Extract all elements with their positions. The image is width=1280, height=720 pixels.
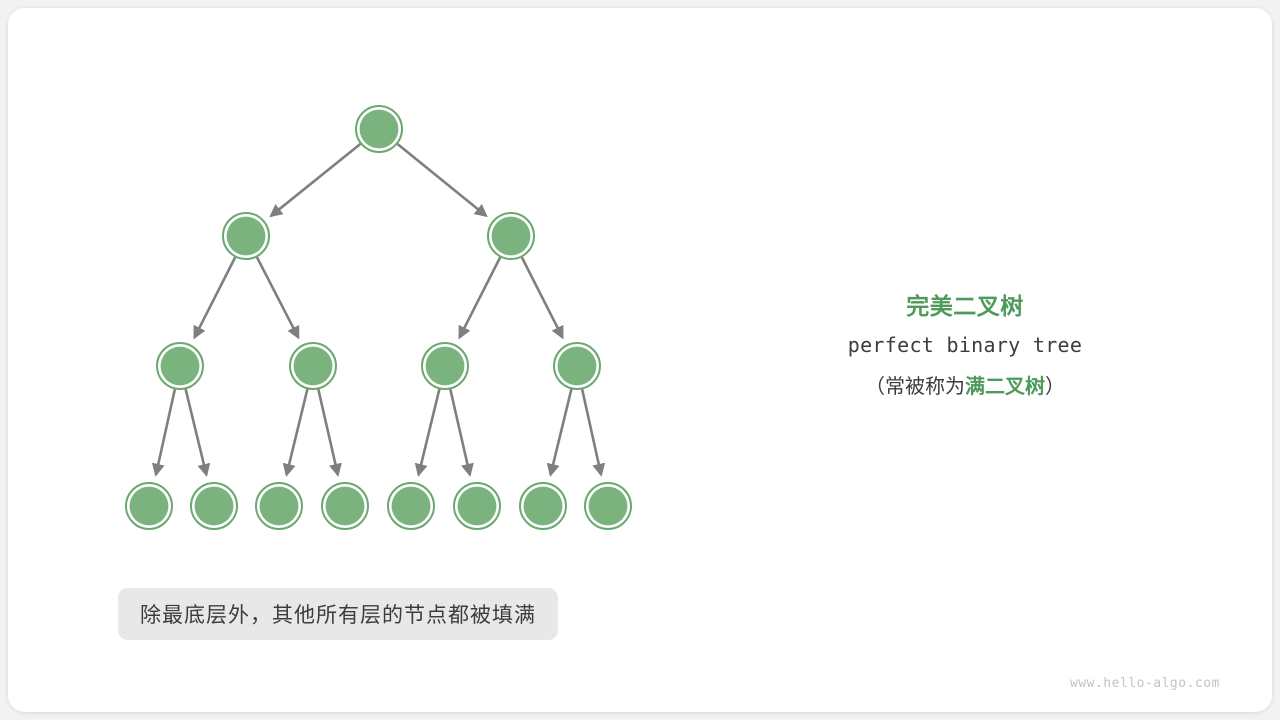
legend-note-prefix: （常被称为 — [865, 376, 965, 398]
tree-node — [585, 483, 631, 529]
node-fill — [227, 217, 266, 256]
tree-node — [157, 343, 203, 389]
node-fill — [294, 347, 333, 386]
tree-edge — [551, 389, 572, 475]
tree-node — [223, 213, 269, 259]
node-fill — [161, 347, 200, 386]
node-fill — [492, 217, 531, 256]
tree-edge — [582, 389, 601, 474]
node-fill — [426, 347, 465, 386]
tree-node — [290, 343, 336, 389]
node-fill — [326, 487, 365, 526]
node-fill — [392, 487, 431, 526]
tree-node — [520, 483, 566, 529]
tree-edge — [186, 389, 207, 475]
node-fill — [130, 487, 169, 526]
legend-note: （常被称为满二叉树） — [820, 366, 1110, 408]
tree-node — [554, 343, 600, 389]
tree-edge — [459, 257, 500, 337]
tree-node — [322, 483, 368, 529]
tree-node — [256, 483, 302, 529]
tree-node — [191, 483, 237, 529]
tree-nodes — [126, 106, 631, 529]
tree-node — [388, 483, 434, 529]
tree-edge — [257, 257, 298, 337]
node-fill — [458, 487, 497, 526]
page-root: 完美二叉树 perfect binary tree （常被称为满二叉树） 除最底… — [0, 0, 1280, 720]
tree-node — [488, 213, 534, 259]
legend-block: 完美二叉树 perfect binary tree （常被称为满二叉树） — [820, 288, 1110, 408]
legend-note-suffix: ） — [1045, 376, 1065, 398]
watermark-text: www.hello-algo.com — [1070, 676, 1220, 691]
tree-edge — [287, 389, 308, 475]
node-fill — [260, 487, 299, 526]
tree-edges — [156, 144, 601, 475]
tree-edge — [271, 144, 360, 216]
tree-edge — [398, 144, 486, 216]
node-fill — [524, 487, 563, 526]
tree-edge — [156, 389, 175, 474]
node-fill — [558, 347, 597, 386]
tree-edge — [419, 389, 440, 475]
tree-node — [356, 106, 402, 152]
legend-title: 完美二叉树 — [820, 288, 1110, 324]
tree-edge — [450, 389, 470, 474]
tree-node — [454, 483, 500, 529]
tree-node — [126, 483, 172, 529]
tree-node — [422, 343, 468, 389]
node-fill — [360, 110, 399, 149]
caption-badge: 除最底层外，其他所有层的节点都被填满 — [118, 588, 558, 640]
legend-subtitle-en: perfect binary tree — [820, 324, 1110, 366]
tree-edge — [318, 389, 338, 474]
tree-edge — [522, 257, 563, 337]
legend-note-highlight: 满二叉树 — [965, 376, 1045, 398]
tree-edge — [194, 257, 235, 337]
node-fill — [589, 487, 628, 526]
node-fill — [195, 487, 234, 526]
